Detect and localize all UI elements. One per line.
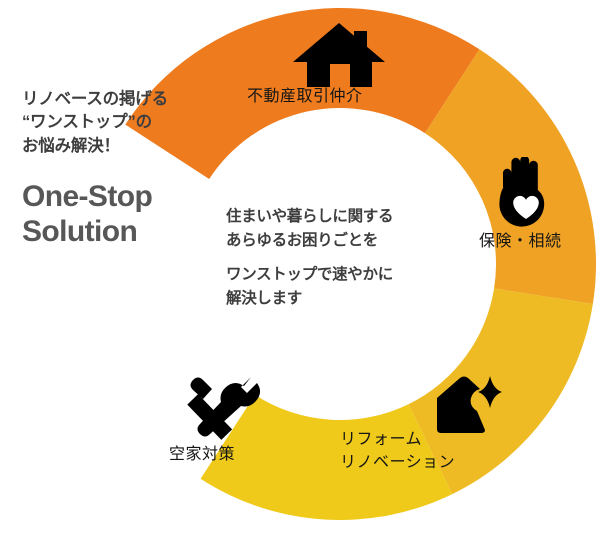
title-line-1: One-Stop [22,180,227,215]
hand-heart-icon [497,157,555,232]
page-title: One-Stop Solution [22,180,227,250]
segment-label-line: リフォーム [340,429,455,452]
lead-line-1: リノベースの掲げる [22,88,227,111]
segment-label-line: リノベーション [340,452,455,475]
lead-line-2: “ワンストップ”の [22,111,227,134]
house-icon [292,22,386,93]
center-p2-line-2: 解決します [226,287,441,311]
center-p2-line-1: ワンストップで速やかに [226,263,441,287]
paragraph-spacer [226,252,441,263]
center-p1-line-1: 住まいや暮らしに関する [226,205,441,229]
title-line-2: Solution [22,215,227,250]
headline-block: リノベースの掲げる “ワンストップ”の お悩み解決！ One-Stop Solu… [22,88,227,250]
segment-label-line: 空家対策 [169,444,235,467]
segment-label-vacant-house: 空家対策 [169,444,235,467]
center-p1-line-2: あらゆるお困りごとを [226,229,441,253]
segment-label-reform-renovation: リフォーム リノベーション [340,429,455,474]
lead-line-3: お悩み解決！ [22,135,227,158]
segment-label-insurance-inheritance: 保険・相続 [479,231,562,254]
segment-label-line: 不動産取引仲介 [247,86,363,109]
segment-label-line: 保険・相続 [479,231,562,254]
center-copy-block: 住まいや暮らしに関する あらゆるお困りごとを ワンストップで速やかに 解決します [226,205,441,310]
segment-label-real-estate: 不動産取引仲介 [247,86,363,109]
infographic-canvas: リノベースの掲げる “ワンストップ”の お悩み解決！ One-Stop Solu… [0,0,600,533]
hammer-wrench-icon [179,372,265,445]
